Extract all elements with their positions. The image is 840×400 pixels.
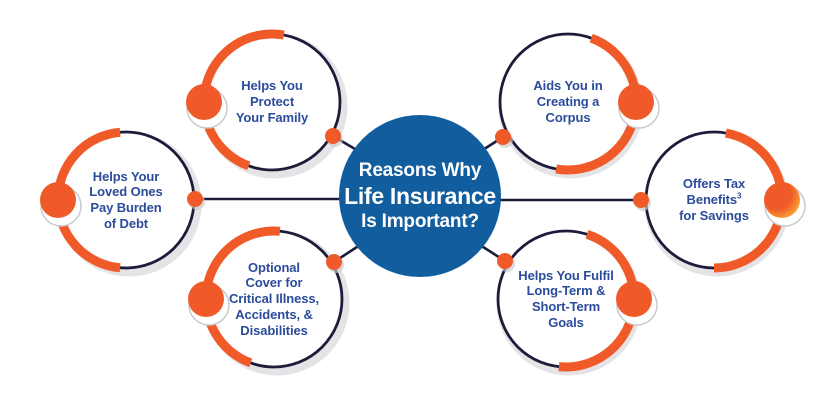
- connector-dot-left-middle[interactable]: [187, 191, 203, 207]
- hub-blue-circle[interactable]: [339, 115, 501, 277]
- hub-circle: [339, 115, 501, 277]
- accent-dot-optional-cover[interactable]: [188, 281, 224, 317]
- connector-dot-top-left[interactable]: [325, 128, 341, 144]
- connector-dot-bottom-right[interactable]: [497, 253, 513, 269]
- diagram-svg: [0, 0, 840, 400]
- connector-dot-right-middle[interactable]: [633, 192, 649, 208]
- accent-dot-protect-your-family[interactable]: [186, 84, 222, 120]
- accent-dot-creating-a-corpus[interactable]: [618, 84, 654, 120]
- accent-dot-pay-burden-of-debt[interactable]: [40, 182, 76, 218]
- connector-dot-top-right[interactable]: [495, 129, 511, 145]
- accent-dot-long-short-term-goals[interactable]: [616, 281, 652, 317]
- infographic-canvas: Helps Your Loved Ones Pay Burden of Debt…: [0, 0, 840, 400]
- connector-dot-bottom-left[interactable]: [326, 254, 342, 270]
- accent-dot-tax-benefits[interactable]: [764, 182, 800, 218]
